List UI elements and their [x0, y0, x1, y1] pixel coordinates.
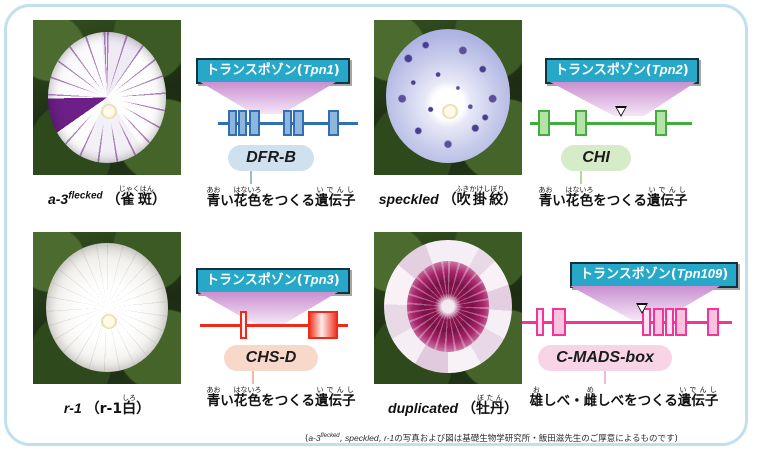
flower-ribs — [46, 243, 167, 372]
footnote-italic-a3-sup: flecked — [321, 433, 340, 439]
gene-axis — [530, 122, 692, 125]
transposon-banner-name: Tpn2 — [652, 62, 683, 77]
exon-box — [283, 110, 292, 136]
gene-function-chi: 青あおい花色はないろをつくる遺伝子いでんし — [530, 186, 696, 209]
exon-box — [536, 308, 544, 336]
flower-speckled — [374, 20, 522, 175]
flower-duplicated — [374, 232, 522, 384]
gene-map-chi — [530, 108, 692, 138]
transposon-banner-prefix: トランスポゾン( — [580, 267, 677, 282]
transposon-banner-prefix: トランスポゾン( — [555, 63, 652, 78]
exon-box — [249, 110, 260, 136]
caption-speckled: speckled （吹掛絞ふきかけしぼり） — [364, 185, 532, 209]
gene-label-chs-d: CHS-D — [224, 345, 318, 371]
flower-ruffles — [407, 261, 490, 352]
caption-japanese: （r-1白しろ） — [86, 401, 150, 417]
caption-gene-name: a-3 — [48, 191, 68, 207]
exon-box — [653, 308, 664, 336]
exon-box — [575, 110, 587, 136]
transposon-banner-name: Tpn3 — [303, 272, 334, 287]
gene-function-dfr-b: 青あおい花色はないろをつくる遺伝子いでんし — [198, 186, 364, 209]
transposon-banner-suffix: ) — [683, 63, 689, 78]
caption-duplicated: duplicated （牡丹ぼたん） — [364, 394, 542, 418]
exon-box — [538, 110, 550, 136]
gene-label-chi: CHI — [561, 145, 631, 171]
footnote-italic-a3: a-3 — [308, 433, 320, 443]
footnote-credit: (a-3flecked, speckled, r-1の写真および図は基礎生物学研… — [305, 432, 678, 444]
caption-japanese: （吹掛絞ふきかけしぼり） — [443, 192, 518, 208]
gene-map-c-mads-box — [522, 306, 732, 338]
exon-box — [328, 110, 339, 136]
flower-flecked — [33, 20, 181, 175]
transposon-banner-tpn2: トランスポゾン(Tpn2) — [545, 58, 699, 84]
footnote-italic-r1: r-1 — [384, 433, 394, 443]
gene-function-c-mads-box: 雄おしべ・雌めしべをつくる遺伝子いでんし — [524, 386, 724, 409]
transposon-banner-prefix: トランスポゾン( — [206, 273, 303, 288]
transposon-banner-suffix: ) — [334, 273, 340, 288]
transposon-banner-name: Tpn1 — [303, 62, 334, 77]
transposon-insertion-box-tpn3 — [308, 311, 338, 339]
transposon-banner-prefix: トランスポゾン( — [206, 63, 303, 78]
exon-box — [293, 110, 304, 136]
caption-flecked: a-3flecked （雀斑じゃくはん） — [33, 185, 181, 209]
caption-gene-name: duplicated — [388, 400, 458, 416]
gene-label-c-mads-box: C-MADS-box — [538, 345, 672, 371]
gene-function-chs-d: 青あおい花色はないろをつくる遺伝子いでんし — [198, 386, 364, 409]
photo-flecked-morning-glory — [33, 20, 181, 175]
footnote-tail: の写真および図は基礎生物学研究所・飯田滋先生のご厚意によるものです) — [394, 434, 678, 444]
exon-box — [240, 311, 247, 339]
caption-japanese: （雀斑じゃくはん） — [107, 192, 167, 208]
exon-box — [228, 110, 237, 136]
transposon-banner-tpn1: トランスポゾン(Tpn1) — [196, 58, 350, 84]
photo-duplicated-morning-glory — [374, 232, 522, 384]
transposon-banner-suffix: ) — [334, 63, 340, 78]
flower-streaks — [48, 32, 166, 162]
gene-label-dfr-b: DFR-B — [228, 145, 314, 171]
transposon-banner-tpn3: トランスポゾン(Tpn3) — [196, 268, 350, 294]
caption-r1: r-1 （r-1白しろ） — [33, 394, 181, 418]
exon-box — [665, 308, 674, 336]
transposon-banner-tpn109: トランスポゾン(Tpn109) — [570, 262, 738, 288]
exon-box — [655, 110, 667, 136]
figure-root: a-3flecked （雀斑じゃくはん） トランスポゾン(Tpn1) DFR-B… — [0, 0, 760, 458]
transposon-banner-name: Tpn109 — [677, 266, 723, 281]
caption-gene-name: r-1 — [64, 400, 82, 416]
photo-speckled-morning-glory — [374, 20, 522, 175]
footnote-italic-speckled: speckled — [345, 433, 379, 443]
exon-box — [707, 308, 719, 336]
gene-map-dfr-b — [218, 108, 358, 138]
flower-r1-white — [33, 232, 181, 384]
photo-r1-white-morning-glory — [33, 232, 181, 384]
caption-allele-superscript: flecked — [68, 190, 102, 201]
flower-speckles — [386, 29, 510, 162]
transposon-banner-suffix: ) — [722, 267, 728, 282]
exon-box — [675, 308, 687, 336]
exon-box — [238, 110, 247, 136]
caption-gene-name: speckled — [379, 191, 439, 207]
caption-japanese: （牡丹ぼたん） — [462, 401, 518, 417]
exon-box — [552, 308, 566, 336]
gene-map-chs-d — [200, 310, 348, 340]
